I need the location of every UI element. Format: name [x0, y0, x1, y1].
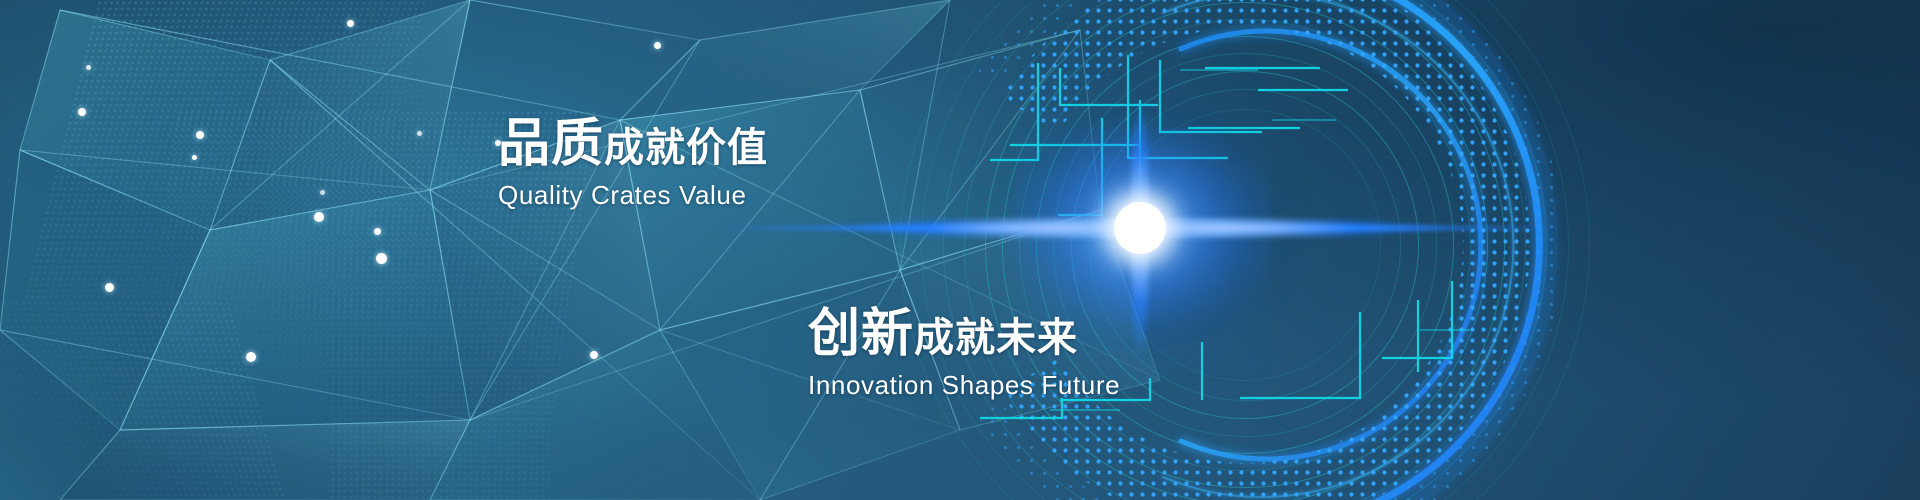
circuit-traces — [0, 0, 1920, 500]
slogan-innovation: 创新成就未来 Innovation Shapes Future — [808, 308, 1120, 401]
slogan-quality-cn-strong: 品质 — [498, 114, 604, 174]
slogan-quality-cn-light: 成就价值 — [604, 125, 768, 171]
flare-core — [1114, 202, 1166, 254]
slogan-innovation-english: Innovation Shapes Future — [808, 370, 1120, 401]
slogan-innovation-chinese: 创新成就未来 — [808, 308, 1120, 360]
slogan-quality-chinese: 品质成就价值 — [498, 118, 768, 170]
hero-banner: 品质成就价值 Quality Crates Value 创新成就未来 Innov… — [0, 0, 1920, 500]
slogan-innovation-cn-light: 成就未来 — [914, 315, 1078, 361]
slogan-quality-english: Quality Crates Value — [498, 180, 768, 211]
slogan-innovation-cn-strong: 创新 — [808, 304, 914, 364]
slogan-quality: 品质成就价值 Quality Crates Value — [498, 118, 768, 211]
